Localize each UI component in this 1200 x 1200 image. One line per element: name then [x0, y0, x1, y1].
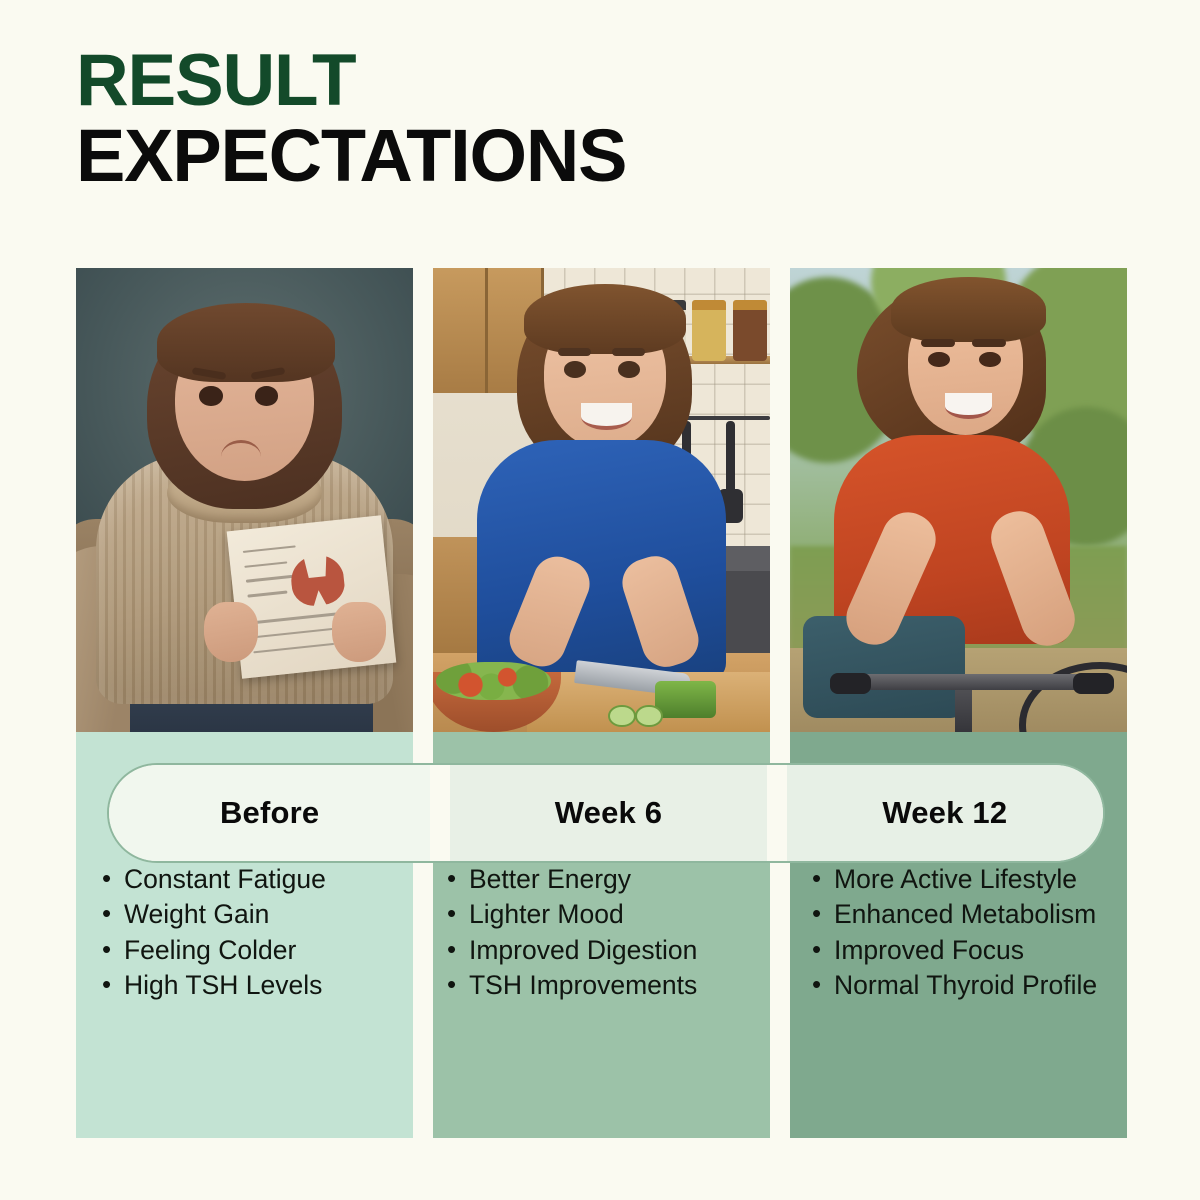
stage-label-before[interactable]: Before	[109, 765, 430, 861]
bullet-icon: •	[812, 862, 834, 896]
pill-divider	[767, 765, 787, 861]
list-item-label: Constant Fatigue	[124, 862, 407, 896]
bullet-icon: •	[812, 968, 834, 1002]
bullet-list-week-6: • Better Energy • Lighter Mood • Improve…	[433, 862, 770, 1004]
bullet-icon: •	[102, 862, 124, 896]
list-item-label: Enhanced Metabolism	[834, 897, 1123, 931]
bullet-icon: •	[447, 968, 469, 1002]
page-title: RESULT EXPECTATIONS	[76, 44, 1136, 194]
cucumber-slice	[635, 705, 663, 728]
spice-jar	[733, 300, 767, 360]
list-item-label: Normal Thyroid Profile	[834, 968, 1123, 1002]
list-item: • Weight Gain	[102, 897, 407, 931]
smiling-mouth	[945, 393, 992, 418]
column-week-6: • Better Energy • Lighter Mood • Improve…	[433, 268, 770, 1138]
list-item-label: Improved Digestion	[469, 933, 766, 967]
eye-right	[618, 361, 640, 378]
list-item: • Lighter Mood	[447, 897, 766, 931]
list-item-label: Feeling Colder	[124, 933, 407, 967]
list-item: • Normal Thyroid Profile	[812, 968, 1123, 1002]
list-item-label: High TSH Levels	[124, 968, 407, 1002]
bullet-icon: •	[447, 862, 469, 896]
eye-left	[564, 361, 586, 378]
list-item: • High TSH Levels	[102, 968, 407, 1002]
bullet-icon: •	[102, 968, 124, 1002]
stage-label-pill: Before Week 6 Week 12	[107, 763, 1105, 863]
eyebrow-right	[612, 348, 646, 356]
pill-divider	[430, 765, 450, 861]
list-item: • TSH Improvements	[447, 968, 766, 1002]
handlebar-grip	[1073, 673, 1113, 694]
photo-smiling-woman-cooking-vegetables	[433, 268, 770, 732]
smiling-mouth	[581, 403, 632, 430]
column-before: • Constant Fatigue • Weight Gain • Feeli…	[76, 268, 413, 1138]
cucumber	[655, 681, 716, 718]
list-item-label: TSH Improvements	[469, 968, 766, 1002]
list-item: • Improved Digestion	[447, 933, 766, 967]
list-item-label: Better Energy	[469, 862, 766, 896]
list-item: • More Active Lifestyle	[812, 862, 1123, 896]
eye-left	[928, 352, 950, 368]
bullet-icon: •	[102, 933, 124, 967]
bullet-icon: •	[447, 933, 469, 967]
bicycle-handlebar	[837, 674, 1113, 690]
eyebrow-left	[558, 348, 592, 356]
handlebar-grip	[830, 673, 870, 694]
stage-label-week-12[interactable]: Week 12	[787, 765, 1103, 861]
list-item-label: Improved Focus	[834, 933, 1123, 967]
stage-label-week-6[interactable]: Week 6	[450, 765, 766, 861]
column-week-12: • More Active Lifestyle • Enhanced Metab…	[790, 268, 1127, 1138]
bullet-icon: •	[447, 897, 469, 931]
hand-right	[332, 602, 386, 662]
list-item: • Constant Fatigue	[102, 862, 407, 896]
list-item: • Feeling Colder	[102, 933, 407, 967]
list-item: • Improved Focus	[812, 933, 1123, 967]
list-item-label: More Active Lifestyle	[834, 862, 1123, 896]
hair-front	[157, 303, 336, 382]
bullet-icon: •	[812, 897, 834, 931]
eyebrow-right	[972, 339, 1006, 347]
hair-front	[524, 284, 686, 354]
spice-jar	[692, 300, 726, 360]
hair-front	[891, 277, 1046, 342]
eyebrow-left	[921, 339, 955, 347]
list-item-label: Lighter Mood	[469, 897, 766, 931]
bullet-list-before: • Constant Fatigue • Weight Gain • Feeli…	[76, 862, 413, 1004]
list-item: • Enhanced Metabolism	[812, 897, 1123, 931]
eye-right	[255, 386, 279, 405]
comparison-columns: • Constant Fatigue • Weight Gain • Feeli…	[76, 268, 1127, 1138]
eye-left	[199, 386, 223, 405]
list-item-label: Weight Gain	[124, 897, 407, 931]
photo-smiling-woman-riding-bicycle-outdoors	[790, 268, 1127, 732]
bullet-list-week-12: • More Active Lifestyle • Enhanced Metab…	[790, 862, 1127, 1004]
photo-sad-woman-holding-thyroid-report	[76, 268, 413, 732]
title-line-expectations: EXPECTATIONS	[76, 118, 1136, 193]
eye-right	[979, 352, 1001, 368]
salad-vegetables	[436, 662, 551, 699]
spatula-icon	[726, 421, 735, 518]
hand-left	[204, 602, 258, 662]
bullet-icon: •	[812, 933, 834, 967]
cucumber-slice	[608, 705, 636, 728]
title-line-result: RESULT	[76, 44, 1136, 118]
bullet-icon: •	[102, 897, 124, 931]
list-item: • Better Energy	[447, 862, 766, 896]
thyroid-gland-icon	[289, 553, 347, 609]
